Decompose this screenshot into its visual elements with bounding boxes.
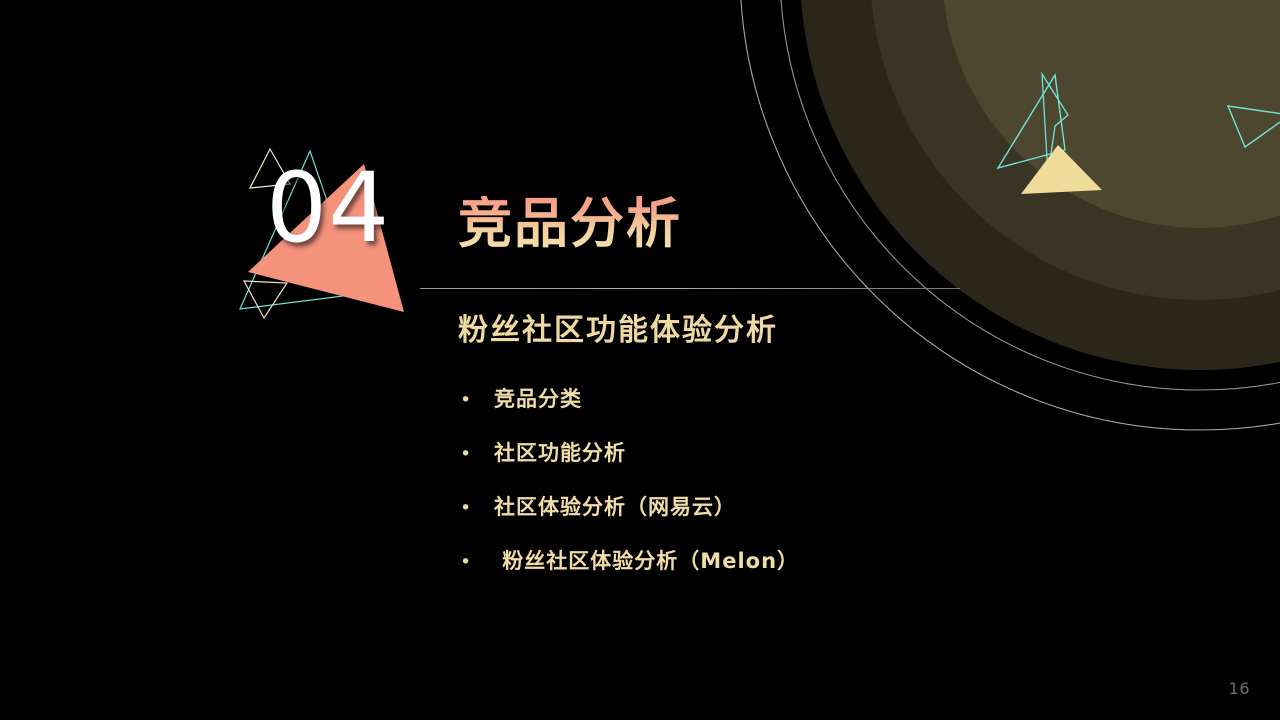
page-subtitle: 粉丝社区功能体验分析 xyxy=(458,305,778,349)
title-divider xyxy=(420,288,960,289)
cyan-triangle-large xyxy=(998,75,1065,168)
yellow-triangle-filled xyxy=(1021,145,1102,194)
bullet-marker-icon: • xyxy=(460,391,494,410)
bullet-marker-icon: • xyxy=(460,445,494,464)
page-number: 16 xyxy=(1229,679,1250,698)
ring-arc-1 xyxy=(740,0,1280,430)
ring-band-outer xyxy=(800,0,1280,370)
list-item[interactable]: • 社区功能分析 xyxy=(460,437,1020,491)
list-item[interactable]: • 社区体验分析（网易云） xyxy=(460,491,1020,545)
list-item-label: 社区功能分析 xyxy=(494,437,626,467)
ring-arc-2 xyxy=(780,0,1280,390)
list-item-label: 社区体验分析（网易云） xyxy=(494,491,736,521)
slide-canvas: 04 竞品分析 粉丝社区功能体验分析 • 竞品分类 • 社区功能分析 • 社区体… xyxy=(0,0,1280,720)
list-item-label: 粉丝社区体验分析（Melon） xyxy=(494,545,799,575)
ring-band-mid xyxy=(870,0,1280,300)
section-number-block: 04 xyxy=(222,136,462,346)
section-number: 04 xyxy=(266,160,390,256)
cyan-triangle-outline xyxy=(1042,74,1068,175)
ring-band-inner xyxy=(942,0,1280,228)
bullet-list: • 竞品分类 • 社区功能分析 • 社区体验分析（网易云） • 粉丝社区体验分析… xyxy=(460,383,1020,599)
cyan-triangle-small-inverted xyxy=(1228,106,1280,147)
list-item[interactable]: • 竞品分类 xyxy=(460,383,1020,437)
list-item-label: 竞品分类 xyxy=(494,383,582,413)
list-item[interactable]: • 粉丝社区体验分析（Melon） xyxy=(460,545,1020,599)
page-title: 竞品分析 xyxy=(458,196,682,253)
bullet-marker-icon: • xyxy=(460,553,494,572)
bullet-marker-icon: • xyxy=(460,499,494,518)
